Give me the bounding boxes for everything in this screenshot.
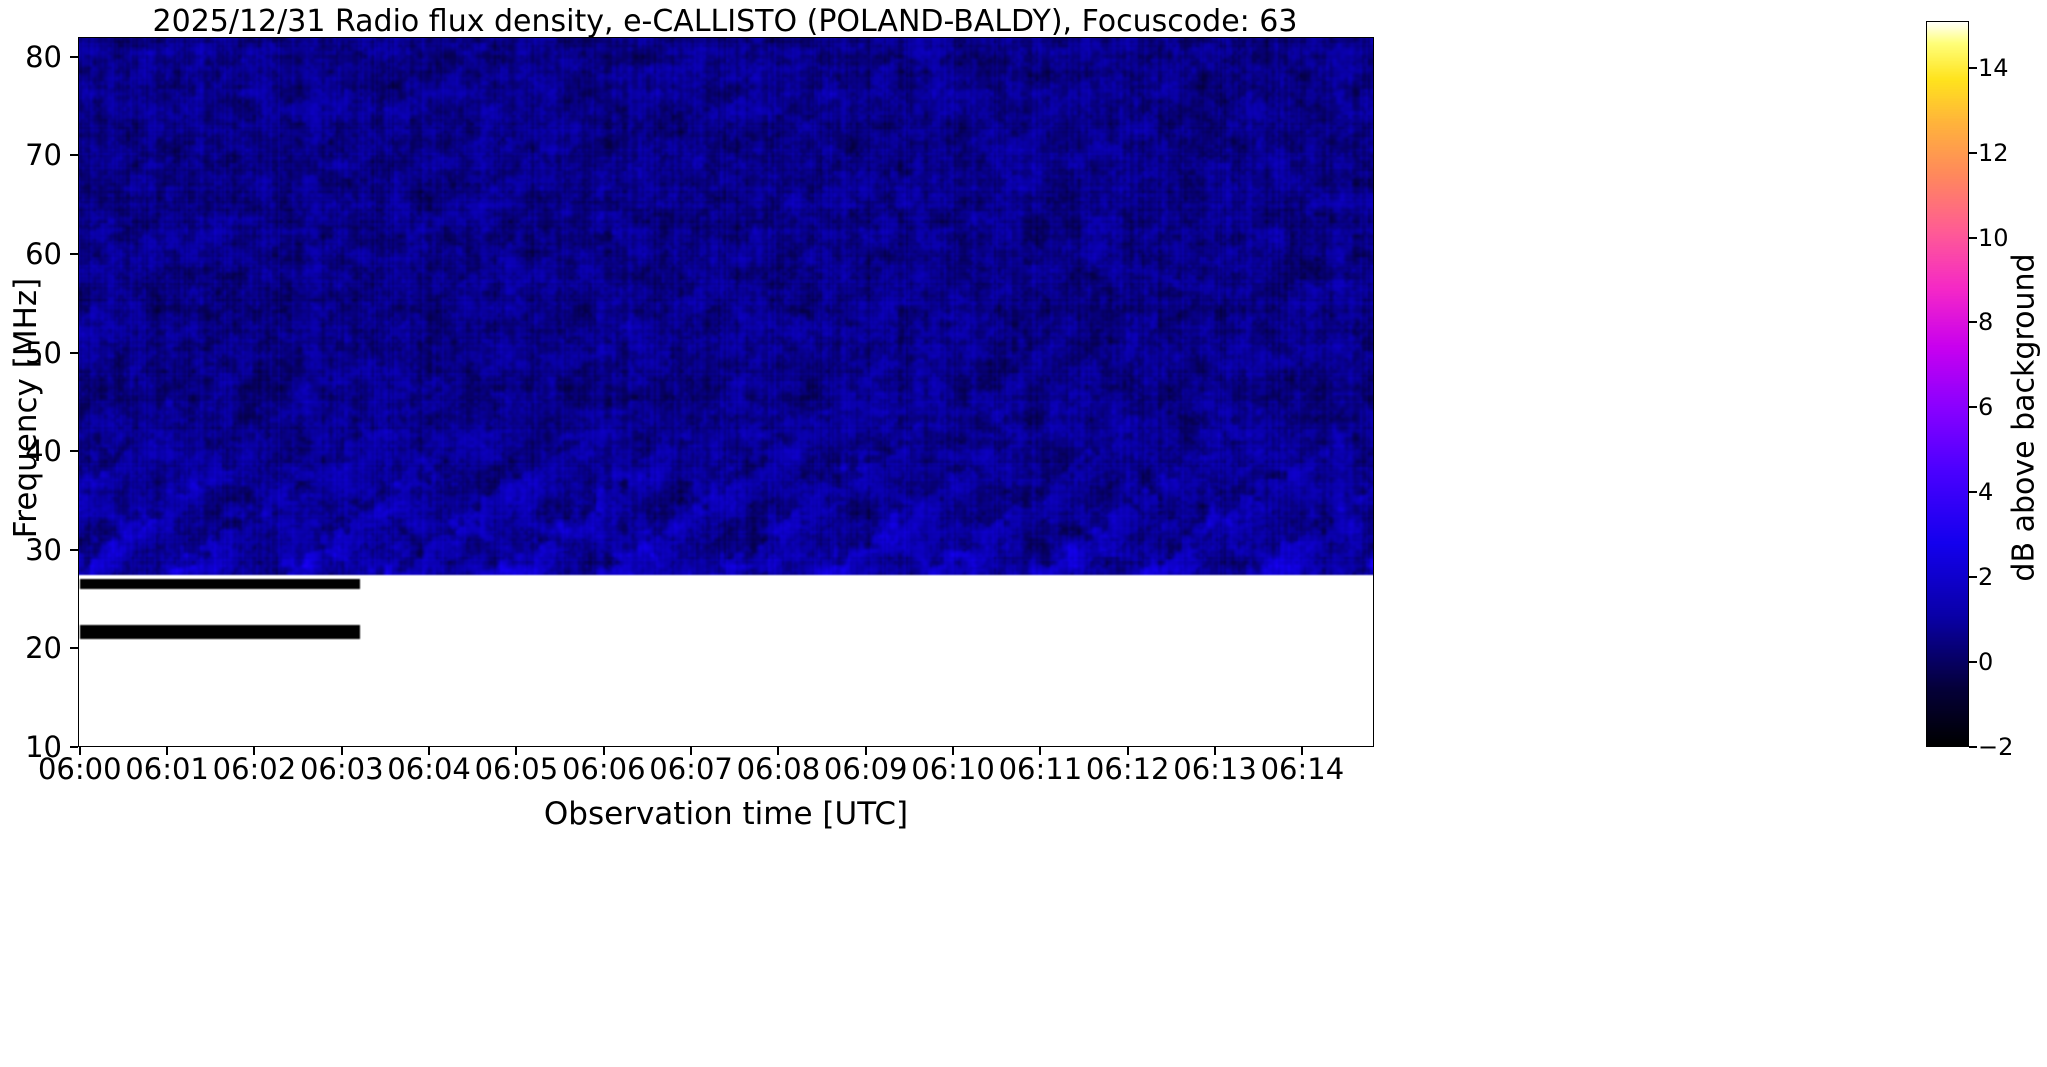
x-tick-label: 06:09: [824, 752, 908, 786]
colorbar-tick-label: 4: [1978, 478, 1993, 506]
y-tick-mark: [70, 154, 78, 156]
colorbar-tick-label: 6: [1978, 393, 1993, 421]
colorbar-tick-mark: [1969, 661, 1977, 663]
x-tick-mark: [253, 747, 255, 755]
x-tick-label: 06:02: [213, 752, 297, 786]
figure-canvas: 2025/12/31 Radio flux density, e-CALLIST…: [0, 0, 2047, 1067]
y-tick-mark: [70, 253, 78, 255]
colorbar-tick-mark: [1969, 321, 1977, 323]
x-tick-mark: [1039, 747, 1041, 755]
x-tick-mark: [166, 747, 168, 755]
x-tick-mark: [865, 747, 867, 755]
colorbar-tick-mark: [1969, 491, 1977, 493]
x-tick-label: 06:12: [1086, 752, 1170, 786]
colorbar-label: dB above background: [2007, 158, 2042, 678]
x-tick-mark: [1214, 747, 1216, 755]
colorbar-tick-mark: [1969, 746, 1977, 748]
x-tick-mark: [341, 747, 343, 755]
y-tick-mark: [70, 746, 78, 748]
x-tick-label: 06:13: [1173, 752, 1257, 786]
x-tick-label: 06:05: [475, 752, 559, 786]
y-axis-label: Frequency [MHz]: [8, 58, 44, 758]
spectrogram-image: [78, 37, 1374, 747]
x-axis-label: Observation time [UTC]: [78, 796, 1374, 832]
x-tick-label: 06:06: [562, 752, 646, 786]
y-tick-mark: [70, 549, 78, 551]
colorbar-tick-mark: [1969, 576, 1977, 578]
x-tick-label: 06:08: [737, 752, 821, 786]
colorbar-tick-mark: [1969, 152, 1977, 154]
x-tick-label: 06:14: [1261, 752, 1345, 786]
y-tick-mark: [70, 56, 78, 58]
x-tick-mark: [952, 747, 954, 755]
colorbar-tick-mark: [1969, 406, 1977, 408]
x-tick-label: 06:10: [911, 752, 995, 786]
x-tick-label: 06:11: [999, 752, 1083, 786]
x-tick-label: 06:03: [300, 752, 384, 786]
y-tick-mark: [70, 647, 78, 649]
x-tick-label: 06:01: [125, 752, 209, 786]
x-tick-label: 06:00: [38, 752, 122, 786]
colorbar-tick-label: 0: [1978, 648, 1993, 676]
page-title: 2025/12/31 Radio flux density, e-CALLIST…: [0, 4, 1450, 39]
x-tick-label: 06:04: [387, 752, 471, 786]
x-tick-mark: [777, 747, 779, 755]
x-tick-label: 06:07: [649, 752, 733, 786]
spectrogram-plot-area: [78, 37, 1374, 747]
colorbar-tick-label: 8: [1978, 308, 1993, 336]
y-tick-mark: [70, 352, 78, 354]
colorbar-tick-label: −2: [1978, 733, 2013, 761]
colorbar-label-holder: dB above background: [2004, 140, 2044, 660]
x-tick-mark: [1127, 747, 1129, 755]
x-tick-mark: [428, 747, 430, 755]
colorbar: [1926, 21, 1969, 747]
colorbar-tick-label: 14: [1978, 54, 2009, 82]
y-axis-label-holder: Frequency [MHz]: [6, 60, 46, 700]
x-tick-mark: [690, 747, 692, 755]
x-tick-mark: [79, 747, 81, 755]
x-tick-mark: [515, 747, 517, 755]
y-tick-mark: [70, 450, 78, 452]
x-tick-mark: [603, 747, 605, 755]
x-tick-mark: [1301, 747, 1303, 755]
colorbar-tick-mark: [1969, 237, 1977, 239]
colorbar-tick-mark: [1969, 67, 1977, 69]
colorbar-tick-label: 2: [1978, 563, 1993, 591]
colorbar-gradient: [1926, 21, 1969, 747]
